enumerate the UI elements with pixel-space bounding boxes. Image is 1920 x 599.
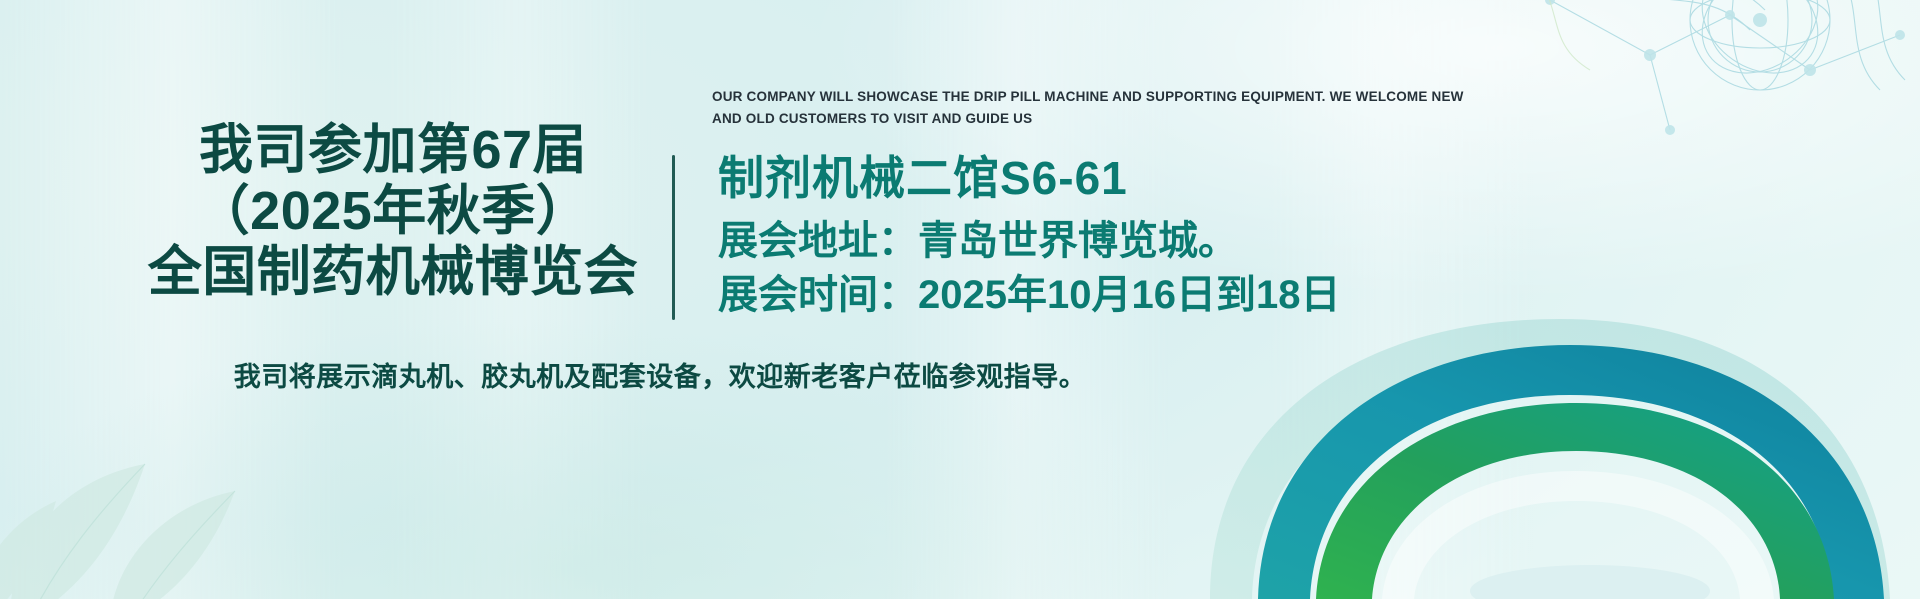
- subtitle-text: 我司将展示滴丸机、胶丸机及配套设备，欢迎新老客户莅临参观指导。: [0, 360, 1320, 394]
- banner-content: 我司参加第67届 （2025年秋季） 全国制药机械博览会 OUR COMPANY…: [0, 0, 1920, 599]
- venue-address: 展会地址：青岛世界博览城。: [718, 218, 1238, 264]
- main-title-line-2: （2025年秋季）: [118, 181, 668, 242]
- main-title: 我司参加第67届 （2025年秋季） 全国制药机械博览会: [118, 120, 668, 303]
- main-title-line-3: 全国制药机械博览会: [118, 242, 668, 303]
- vertical-divider: [672, 155, 675, 320]
- booth-location: 制剂机械二馆S6-61: [718, 152, 1128, 204]
- english-caption: OUR COMPANY WILL SHOWCASE THE DRIP PILL …: [712, 86, 1472, 130]
- event-date: 展会时间：2025年10月16日到18日: [718, 272, 1340, 318]
- exhibition-banner: 我司参加第67届 （2025年秋季） 全国制药机械博览会 OUR COMPANY…: [0, 0, 1920, 599]
- main-title-line-1: 我司参加第67届: [118, 120, 668, 181]
